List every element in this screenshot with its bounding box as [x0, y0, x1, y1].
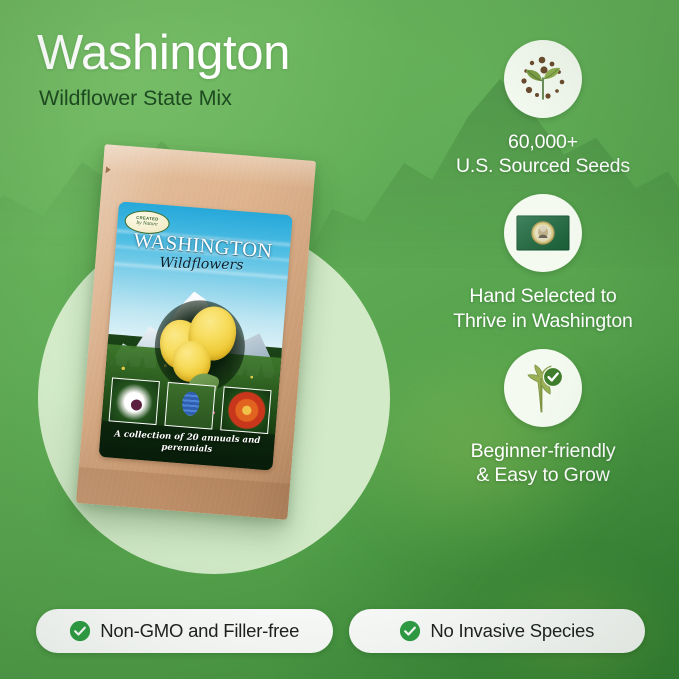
washington-flag-icon — [515, 212, 571, 254]
flower-thumbnail-blue-bluebonnet — [164, 382, 215, 430]
feature-icon-circle — [504, 40, 582, 118]
feature-line-2: Thrive in Washington — [453, 309, 632, 333]
feature-text: Hand Selected to Thrive in Washington — [453, 284, 632, 332]
claim-pill-non-gmo: Non-GMO and Filler-free — [36, 609, 333, 653]
seed-packet-pouch: Created by Nature WASHINGTON Wildflowers… — [76, 144, 316, 520]
feature-icon-circle — [504, 349, 582, 427]
feature-line-1: 60,000+ — [456, 130, 630, 154]
feature-line-2: & Easy to Grow — [471, 463, 616, 487]
claim-pill-label: No Invasive Species — [430, 620, 594, 642]
page-title: Washington — [37, 28, 417, 80]
seed-sprout-icon — [515, 51, 571, 107]
check-circle-icon — [399, 620, 421, 642]
seal-bottom-text: by Nature — [136, 221, 158, 228]
leaf-check-icon — [515, 360, 571, 416]
flower-thumbnail-orange-gaillardia — [220, 386, 271, 434]
product-infographic: Washington Wildflower State Mix — [0, 0, 679, 679]
feature-line-2: U.S. Sourced Seeds — [456, 154, 630, 178]
claim-pill-label: Non-GMO and Filler-free — [100, 620, 299, 642]
check-circle-icon — [69, 620, 91, 642]
feature-line-1: Hand Selected to — [453, 284, 632, 308]
feature-list: 60,000+ U.S. Sourced Seeds — [418, 40, 668, 503]
feature-text: Beginner-friendly & Easy to Grow — [471, 439, 616, 487]
packet-label: Created by Nature WASHINGTON Wildflowers… — [99, 201, 293, 470]
feature-icon-circle — [504, 194, 582, 272]
feature-line-1: Beginner-friendly — [471, 439, 616, 463]
feature-seeds: 60,000+ U.S. Sourced Seeds — [418, 40, 668, 178]
feature-beginner-friendly: Beginner-friendly & Easy to Grow — [418, 349, 668, 487]
feature-text: 60,000+ U.S. Sourced Seeds — [456, 130, 630, 178]
headline-block: Washington Wildflower State Mix — [37, 28, 417, 111]
feature-state-selected: Hand Selected to Thrive in Washington — [418, 194, 668, 332]
page-subtitle: Wildflower State Mix — [39, 86, 417, 111]
flower-thumbnail-white-daisy — [109, 377, 160, 425]
product-stage: Created by Nature WASHINGTON Wildflowers… — [0, 120, 430, 590]
claims-pill-row: Non-GMO and Filler-free No Invasive Spec… — [36, 609, 645, 653]
claim-pill-no-invasive: No Invasive Species — [349, 609, 646, 653]
